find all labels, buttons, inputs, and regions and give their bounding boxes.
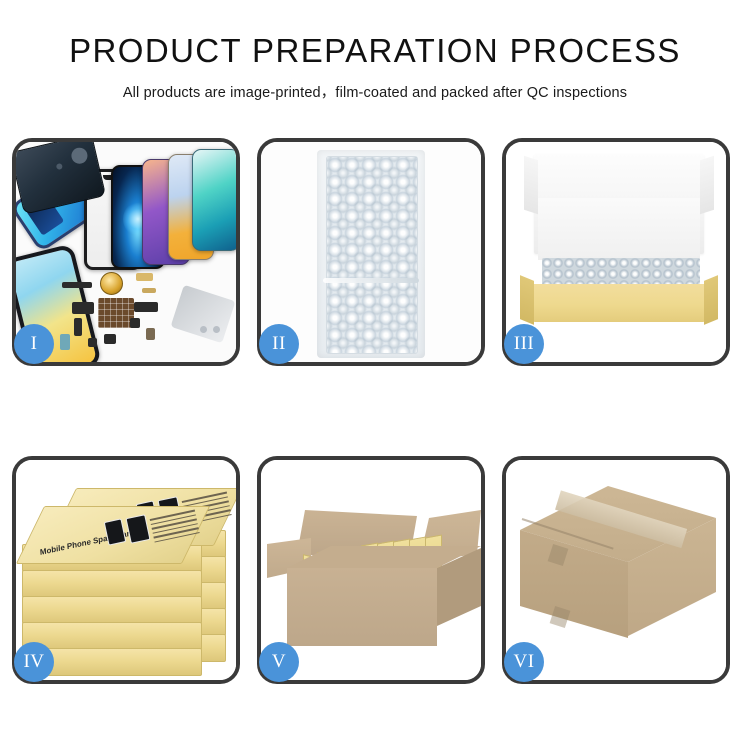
step-badge-4: IV: [14, 642, 54, 682]
step-badge-2: II: [259, 324, 299, 364]
page-title: PRODUCT PREPARATION PROCESS: [0, 34, 750, 69]
retail-box-stacked: [22, 622, 202, 650]
carton-front-face: [287, 568, 437, 646]
flex-cable-part: [62, 282, 92, 288]
page-subtitle: All products are image-printed，film-coat…: [0, 81, 750, 102]
pouch-seal: [323, 278, 419, 283]
gold-connector-part: [136, 273, 153, 281]
bubble-wrap-pouch: [317, 150, 425, 358]
battery-connector-part: [60, 334, 70, 350]
retail-box-stacked: [22, 570, 202, 598]
kraft-box-base: [532, 284, 706, 322]
screws-part: [200, 326, 226, 336]
screw-grid-part: [98, 298, 134, 328]
speaker-part: [104, 334, 116, 344]
page-header: PRODUCT PREPARATION PROCESS All products…: [0, 0, 750, 102]
step-3-image: [506, 142, 726, 362]
process-step-4: Mobile Phone Spare Parts Mobile Phone Sp…: [12, 456, 240, 684]
process-step-1: I: [12, 138, 240, 366]
step-badge-1: I: [14, 324, 54, 364]
gold-flex-part: [142, 288, 156, 293]
sim-tray-part: [146, 328, 155, 340]
button-part: [130, 318, 140, 328]
step-5-image: [261, 460, 481, 680]
step-4-image: Mobile Phone Spare Parts Mobile Phone Sp…: [16, 460, 236, 680]
camera-flex-part: [134, 302, 158, 312]
step-6-image: [506, 460, 726, 680]
process-step-grid: I II III: [12, 138, 738, 684]
step-2-image: [261, 142, 481, 362]
step-badge-3: III: [504, 324, 544, 364]
phone-teal: [192, 149, 236, 251]
process-step-2: II: [257, 138, 485, 366]
step-badge-6: VI: [504, 642, 544, 682]
bubble-wrap-texture: [326, 156, 418, 354]
bracket-part: [72, 302, 94, 314]
process-step-5: V: [257, 456, 485, 684]
antenna-part: [74, 318, 82, 336]
step-badge-5: V: [259, 642, 299, 682]
vibrator-part: [88, 338, 97, 347]
speaker-coil-part: [100, 272, 123, 295]
foam-sheet: [538, 198, 700, 260]
retail-box-stacked: [22, 596, 202, 624]
process-step-3: III: [502, 138, 730, 366]
process-step-6: VI: [502, 456, 730, 684]
step-1-image: [16, 142, 236, 362]
